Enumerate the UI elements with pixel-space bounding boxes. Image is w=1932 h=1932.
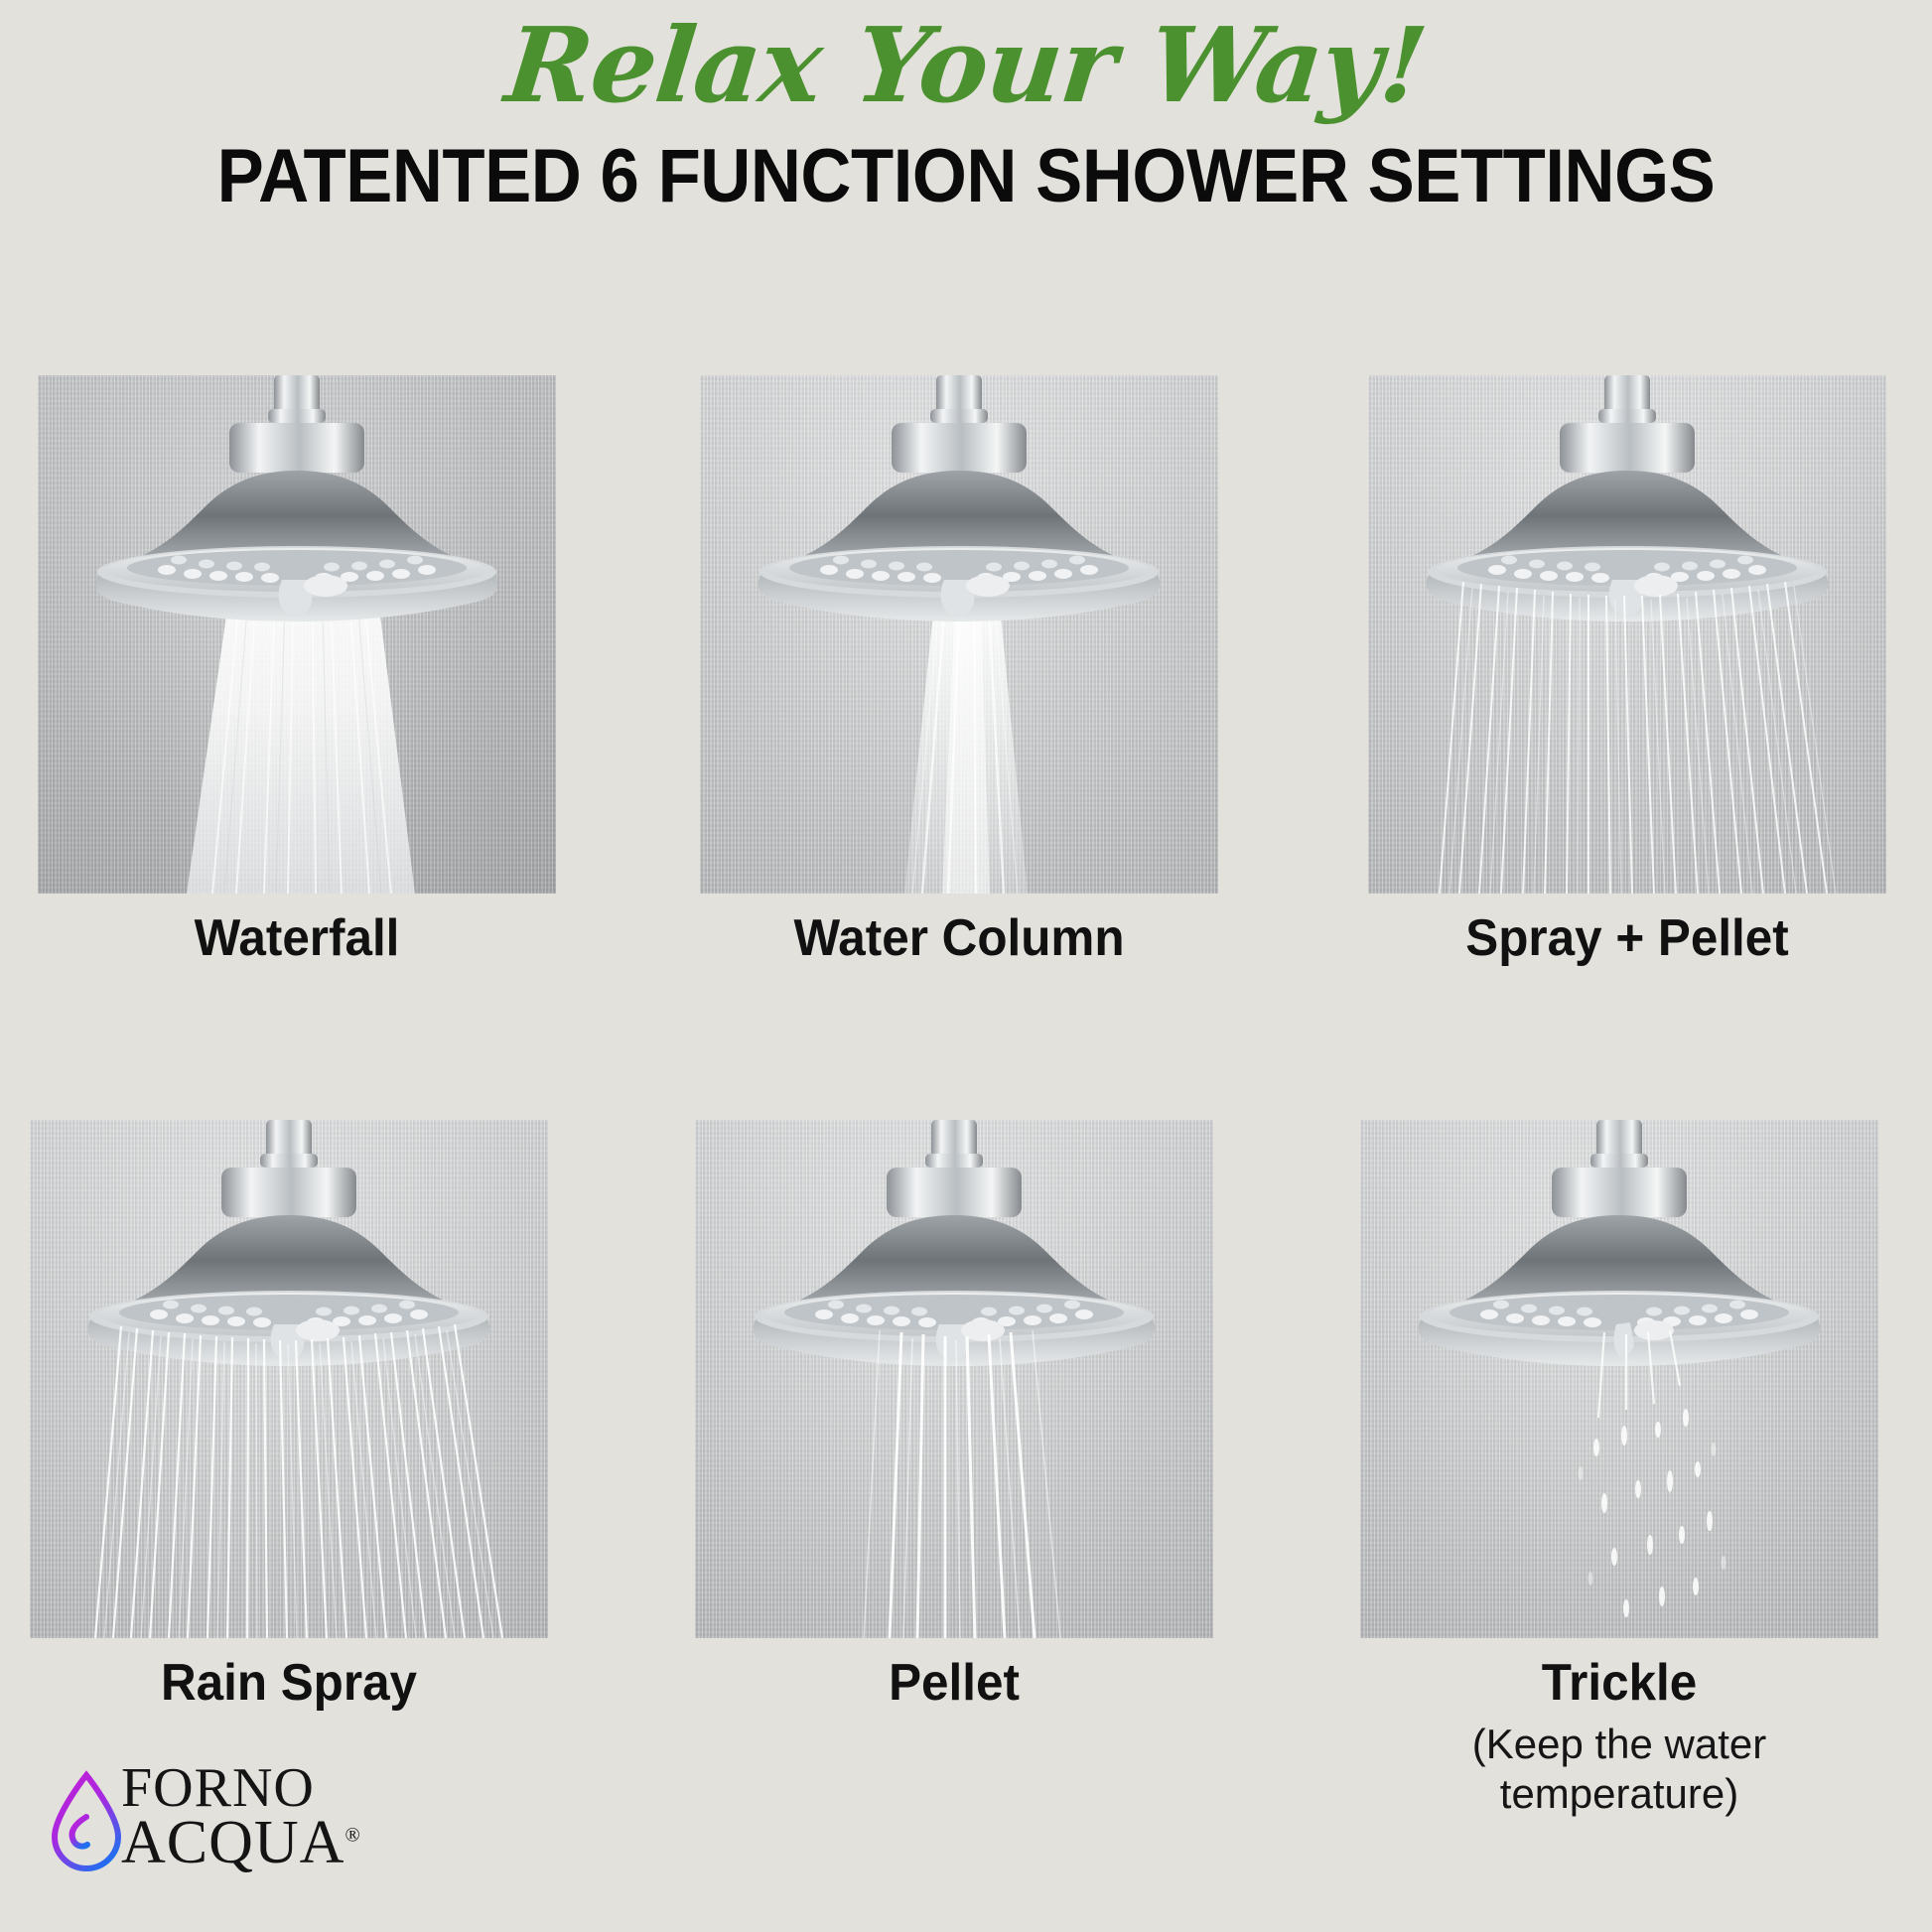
brand-line-1: FORNO <box>121 1763 360 1815</box>
setting-card-water-column[interactable]: Water Column <box>700 375 1218 894</box>
setting-note: (Keep the water temperature) <box>1330 1720 1908 1818</box>
showerhead-photo-spray-pellet <box>1368 375 1886 894</box>
setting-label: Rain Spray <box>43 1656 535 1711</box>
page-title: PATENTED 6 FUNCTION SHOWER SETTINGS <box>68 139 1864 214</box>
setting-card-waterfall[interactable]: Waterfall <box>38 375 556 894</box>
setting-note-line-2: temperature) <box>1330 1769 1908 1819</box>
setting-note-line-1: (Keep the water <box>1330 1720 1908 1769</box>
showerhead-illustration <box>700 375 1218 894</box>
setting-label: Spray + Pellet <box>1381 911 1873 966</box>
setting-card-pellet[interactable]: Pellet <box>695 1120 1213 1638</box>
setting-label: Water Column <box>713 911 1205 966</box>
showerhead-photo-trickle <box>1360 1120 1878 1638</box>
showerhead-illustration <box>38 375 556 894</box>
setting-label: Waterfall <box>51 911 543 966</box>
settings-grid: Waterfall <box>0 375 1932 1864</box>
settings-row-2: Rain Spray <box>0 1120 1932 1864</box>
showerhead-illustration <box>695 1120 1213 1638</box>
brand-wordmark: FORNO ACQUA® <box>121 1763 360 1871</box>
showerhead-illustration <box>1368 375 1886 894</box>
registered-mark: ® <box>345 1824 359 1846</box>
showerhead-photo-water-column <box>700 375 1218 894</box>
brand-logo[interactable]: FORNO ACQUA® <box>46 1769 463 1898</box>
showerhead-photo-rain-spray <box>30 1120 548 1638</box>
showerhead-photo-pellet <box>695 1120 1213 1638</box>
setting-label: Pellet <box>708 1656 1200 1711</box>
settings-row-1: Waterfall <box>0 375 1932 1120</box>
water-droplet-icon <box>46 1769 127 1872</box>
setting-card-trickle[interactable]: Trickle (Keep the water temperature) <box>1360 1120 1878 1638</box>
setting-card-spray-pellet[interactable]: Spray + Pellet <box>1368 375 1886 894</box>
showerhead-photo-waterfall <box>38 375 556 894</box>
setting-label: Trickle <box>1373 1656 1865 1711</box>
brand-line-2: ACQUA® <box>121 1815 360 1871</box>
showerhead-illustration <box>30 1120 548 1638</box>
script-headline: Relax Your Way! <box>0 14 1932 117</box>
showerhead-illustration <box>1360 1120 1878 1638</box>
setting-card-rain-spray[interactable]: Rain Spray <box>30 1120 548 1638</box>
